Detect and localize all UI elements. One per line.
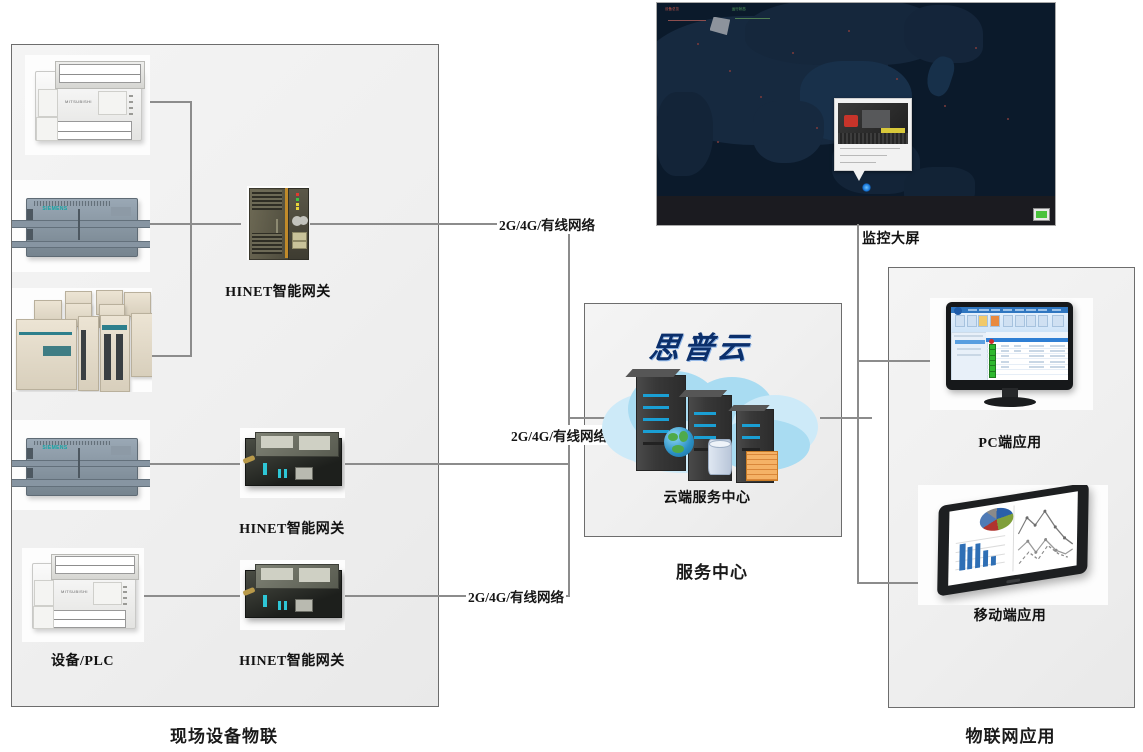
app-menu-item[interactable] <box>1015 309 1024 311</box>
app-tree-root[interactable] <box>954 335 982 337</box>
app-menu-bar <box>951 307 1068 313</box>
app-toolbar-icon[interactable] <box>1038 315 1048 327</box>
globe-icon <box>664 427 694 457</box>
plc-strip-upper <box>12 220 150 228</box>
map-legend-line-2 <box>735 18 770 19</box>
gateway-din-rail-label: HINET智能网关 <box>208 281 348 301</box>
app-table-cell <box>1014 345 1021 347</box>
device-gateway-box-mid <box>240 428 345 498</box>
plc-connector-left <box>27 448 33 459</box>
network-label-top: 2G/4G/有线网络 <box>497 214 597 234</box>
gateway-box-mid-label: HINET智能网关 <box>222 518 362 538</box>
line-trunk-vertical-left <box>568 223 570 596</box>
app-table-cell <box>1001 361 1009 363</box>
server-top-face <box>679 390 727 397</box>
gateway-indicator-cyan-3 <box>284 469 287 478</box>
app-menu-item[interactable] <box>991 309 1000 311</box>
app-menu-item[interactable] <box>1038 309 1047 311</box>
gateway-top-label-2 <box>299 568 331 582</box>
plc-brand-text: SIEMENS <box>42 206 67 212</box>
plc-connector-left2 <box>27 229 33 240</box>
monitoring-bigscreen: 设备总览 运行状态 <box>656 2 1056 226</box>
plc-connector-left2 <box>27 468 33 479</box>
gateway-vent-top <box>252 190 282 209</box>
app-status-ok-icon <box>989 371 996 378</box>
app-toolbar-icon[interactable] <box>1003 315 1013 327</box>
popup-device-photo <box>838 103 908 144</box>
map-legend-shape <box>710 17 731 35</box>
device-plc-mitsubishi-bottom: MITSUBISHI <box>22 548 144 642</box>
popup-photo-highlight <box>844 115 858 127</box>
app-toolbar-icon[interactable] <box>1026 315 1036 327</box>
map-legend-line-1 <box>668 20 706 21</box>
gateway-indicator-cyan-2 <box>278 469 281 478</box>
network-label-bottom: 2G/4G/有线网络 <box>466 586 566 606</box>
bigscreen-label: 监控大屏 <box>862 228 1022 248</box>
rack-module-right-stripe <box>102 325 127 329</box>
device-gateway-box-bottom <box>240 560 345 630</box>
plc-led-1 <box>123 586 127 588</box>
line-tree-vertical-top <box>190 101 192 356</box>
app-toolbar-icon[interactable] <box>1015 315 1025 327</box>
device-plc-siemens-top: SIEMENS <box>12 180 150 272</box>
server-slot <box>694 412 716 415</box>
plc-connector-left <box>27 209 33 220</box>
plc-label-panel <box>111 207 130 216</box>
server-slot <box>643 430 669 433</box>
map-city-dot <box>697 43 699 45</box>
plc-module-seam <box>78 209 79 240</box>
app-table-cell <box>1029 345 1044 347</box>
server-slot <box>643 394 669 397</box>
gateway-indicator-cyan-2 <box>278 601 281 610</box>
plc-led-4 <box>123 603 127 605</box>
app-table-panel <box>986 332 1068 380</box>
gateway-led-red <box>296 193 299 196</box>
app-table-cell <box>1050 345 1065 347</box>
tablet-bar <box>983 549 988 566</box>
plc-terminal-block-top <box>59 64 141 83</box>
app-tree-item[interactable] <box>957 348 982 350</box>
gateway-ethernet-port <box>295 467 314 480</box>
iot-applications-caption: 物联网应用 <box>888 722 1133 747</box>
rack-module-right-slot2 <box>116 334 123 380</box>
gateway-led-yellow-2 <box>296 207 299 210</box>
plc-led-3 <box>123 597 127 599</box>
server-slot <box>694 424 716 427</box>
line-plc-modular <box>149 355 192 357</box>
device-plc-label: 设备/PLC <box>25 650 140 670</box>
gateway-indicator-cyan <box>263 595 267 607</box>
server-slot <box>742 436 760 439</box>
tablet-line-chart <box>1015 497 1075 568</box>
app-toolbar-icon[interactable] <box>955 315 965 327</box>
app-menu-item[interactable] <box>979 309 988 311</box>
plc-display-area <box>93 582 122 605</box>
gateway-top-label-2 <box>299 436 331 450</box>
device-gateway-din-rail <box>247 186 309 260</box>
device-plc-mitsubishi-top: MITSUBISHI <box>25 55 150 155</box>
popup-text-line-1 <box>840 148 900 149</box>
map-landmass-africa <box>657 92 713 176</box>
plc-label-panel <box>111 446 130 455</box>
app-menu-item[interactable] <box>1003 309 1012 311</box>
app-table-cell <box>1050 355 1065 357</box>
line-bigscreen-to-trunk <box>857 224 859 227</box>
app-table-cell <box>1050 361 1065 363</box>
tablet-frame <box>937 485 1089 596</box>
app-mobile-label: 移动端应用 <box>940 605 1080 625</box>
gateway-box-bottom-label: HINET智能网关 <box>222 650 362 670</box>
map-city-dot <box>944 105 946 107</box>
map-city-dot <box>729 70 731 72</box>
tablet-home-button[interactable] <box>1006 578 1020 584</box>
screen-status-indicator <box>1036 211 1047 218</box>
app-pc-illustration <box>930 298 1093 410</box>
gateway-front-marking <box>276 219 278 233</box>
globe-landmass <box>679 431 688 442</box>
server-top-face <box>625 369 680 377</box>
line-plc-mitsu-top <box>149 101 192 103</box>
cloud-service-illustration: 思普云 云端服务中心 <box>594 315 830 515</box>
app-pc-label: PC端应用 <box>940 432 1080 452</box>
app-menu-item[interactable] <box>968 309 977 311</box>
plc-display-area <box>98 91 128 115</box>
globe-landmass <box>668 433 678 441</box>
rack-module-mid-slot <box>81 330 87 380</box>
globe-landmass <box>672 445 684 453</box>
rack-module-right-slot1 <box>104 334 111 380</box>
app-table-cell <box>1050 350 1065 352</box>
tablet-bar <box>960 543 966 570</box>
plc-brand-text: MITSUBISHI <box>65 99 92 104</box>
monitor-stand-base <box>984 397 1036 407</box>
database-icon <box>708 439 732 475</box>
line-trunk-vertical-right <box>857 226 859 583</box>
app-table-cell <box>1014 350 1021 352</box>
app-table-cell <box>1001 366 1009 368</box>
line-gateway2-to-trunk <box>344 463 570 465</box>
cloud-brand-text: 思普云 <box>647 323 755 367</box>
line-plc-siemens-mid-to-gateway2 <box>148 463 246 465</box>
app-menu-item[interactable] <box>1052 309 1061 311</box>
map-legend-title-left: 设备总览 <box>665 7 679 12</box>
plc-module-seam <box>78 448 79 479</box>
plc-front-cover-lower <box>36 117 58 141</box>
app-table-cell <box>1029 350 1044 352</box>
map-bottom-bar <box>657 196 1055 225</box>
server-top-face <box>728 405 769 411</box>
cloud-center-label: 云端服务中心 <box>642 487 772 507</box>
field-panel-caption: 现场设备物联 <box>11 722 437 747</box>
app-ribbon-toolbar <box>951 307 1068 333</box>
gateway-top-label <box>261 568 293 581</box>
plc-led-4 <box>129 113 133 115</box>
app-toolbar-icon[interactable] <box>990 315 1000 327</box>
app-tree-panel <box>951 332 988 380</box>
app-table-cell <box>1050 366 1065 368</box>
gateway-ethernet-port <box>295 599 314 612</box>
app-table-cell <box>1029 355 1044 357</box>
app-toolbar-icon[interactable] <box>967 315 977 327</box>
plc-led-2 <box>123 591 127 593</box>
plc-led-2 <box>129 101 133 103</box>
gateway-led-yellow-1 <box>296 203 299 206</box>
map-legend-panel: 设备总览 运行状态 <box>665 7 824 43</box>
gateway-vent-bottom <box>252 233 282 254</box>
app-toolbar-icon[interactable] <box>1052 315 1065 327</box>
plc-led-1 <box>129 95 133 97</box>
tablet-bar <box>967 546 973 569</box>
app-mobile-illustration <box>918 485 1108 605</box>
monitor-screen <box>951 307 1068 380</box>
plc-brand-text: SIEMENS <box>42 445 67 451</box>
tablet-bar <box>975 542 981 567</box>
app-table-cell <box>1029 366 1044 368</box>
tablet-screen <box>948 491 1078 585</box>
gateway-ethernet-port-1 <box>292 232 307 241</box>
map-legend-title-right: 运行状态 <box>732 7 746 12</box>
popup-pointer-tail <box>853 170 865 181</box>
plc-led-3 <box>129 107 133 109</box>
app-tree-item-selected[interactable] <box>955 340 984 345</box>
line-plc-mitsu-bottom-to-gateway3 <box>139 595 246 597</box>
app-logo-icon <box>954 307 962 315</box>
tablet-pie-chart <box>980 506 1014 533</box>
gateway-indicator-cyan <box>263 463 267 475</box>
app-toolbar-icon[interactable] <box>978 315 988 327</box>
map-landmass-kamchatka <box>904 5 984 63</box>
device-plc-modular-rack <box>12 288 152 392</box>
app-table-cell <box>1001 345 1009 347</box>
app-tree-item[interactable] <box>957 354 982 356</box>
device-plc-siemens-mid: SIEMENS <box>12 420 150 510</box>
plc-front-cover-left <box>34 580 54 606</box>
line-tree-to-gateway1 <box>149 223 241 225</box>
gateway-ethernet-port-2 <box>292 241 307 250</box>
plc-terminal-block-top <box>55 556 135 574</box>
firewall-icon <box>746 451 778 481</box>
plc-strip-upper <box>12 460 150 467</box>
monitor-frame <box>946 302 1073 389</box>
plc-front-cover-lower <box>33 606 55 629</box>
gateway-led-green <box>296 198 299 201</box>
app-table-row-selected[interactable] <box>986 338 1068 343</box>
service-center-caption: 服务中心 <box>584 558 840 583</box>
popup-photo-panel <box>862 110 890 128</box>
plc-front-cover-left <box>38 89 59 117</box>
app-table-cell <box>1001 355 1009 357</box>
map-active-device-marker <box>862 183 871 192</box>
plc-strip-lower <box>12 241 150 249</box>
map-city-dot <box>848 30 850 32</box>
app-table-cell <box>1029 361 1044 363</box>
server-slot <box>643 406 669 409</box>
gateway-indicator-cyan-3 <box>284 601 287 610</box>
rack-cpu-stripe <box>19 332 72 335</box>
screen-status-badge <box>1033 208 1050 221</box>
server-slot <box>742 424 760 427</box>
map-city-dot <box>717 141 719 143</box>
app-menu-item[interactable] <box>1026 309 1035 311</box>
tablet-bar <box>991 556 996 566</box>
rack-module-far-right <box>131 313 152 377</box>
popup-photo-grid <box>838 133 908 144</box>
plc-brand-text: MITSUBISHI <box>61 589 88 594</box>
map-device-popup <box>834 98 912 171</box>
server-slot <box>643 418 669 421</box>
app-table-cell <box>1001 350 1009 352</box>
popup-text-line-3 <box>840 162 876 163</box>
rack-cpu-display <box>43 346 71 355</box>
app-table-row[interactable] <box>986 370 1068 376</box>
plc-strip-lower <box>12 479 150 486</box>
gateway-top-label <box>261 436 293 449</box>
popup-text-line-2 <box>840 155 887 156</box>
